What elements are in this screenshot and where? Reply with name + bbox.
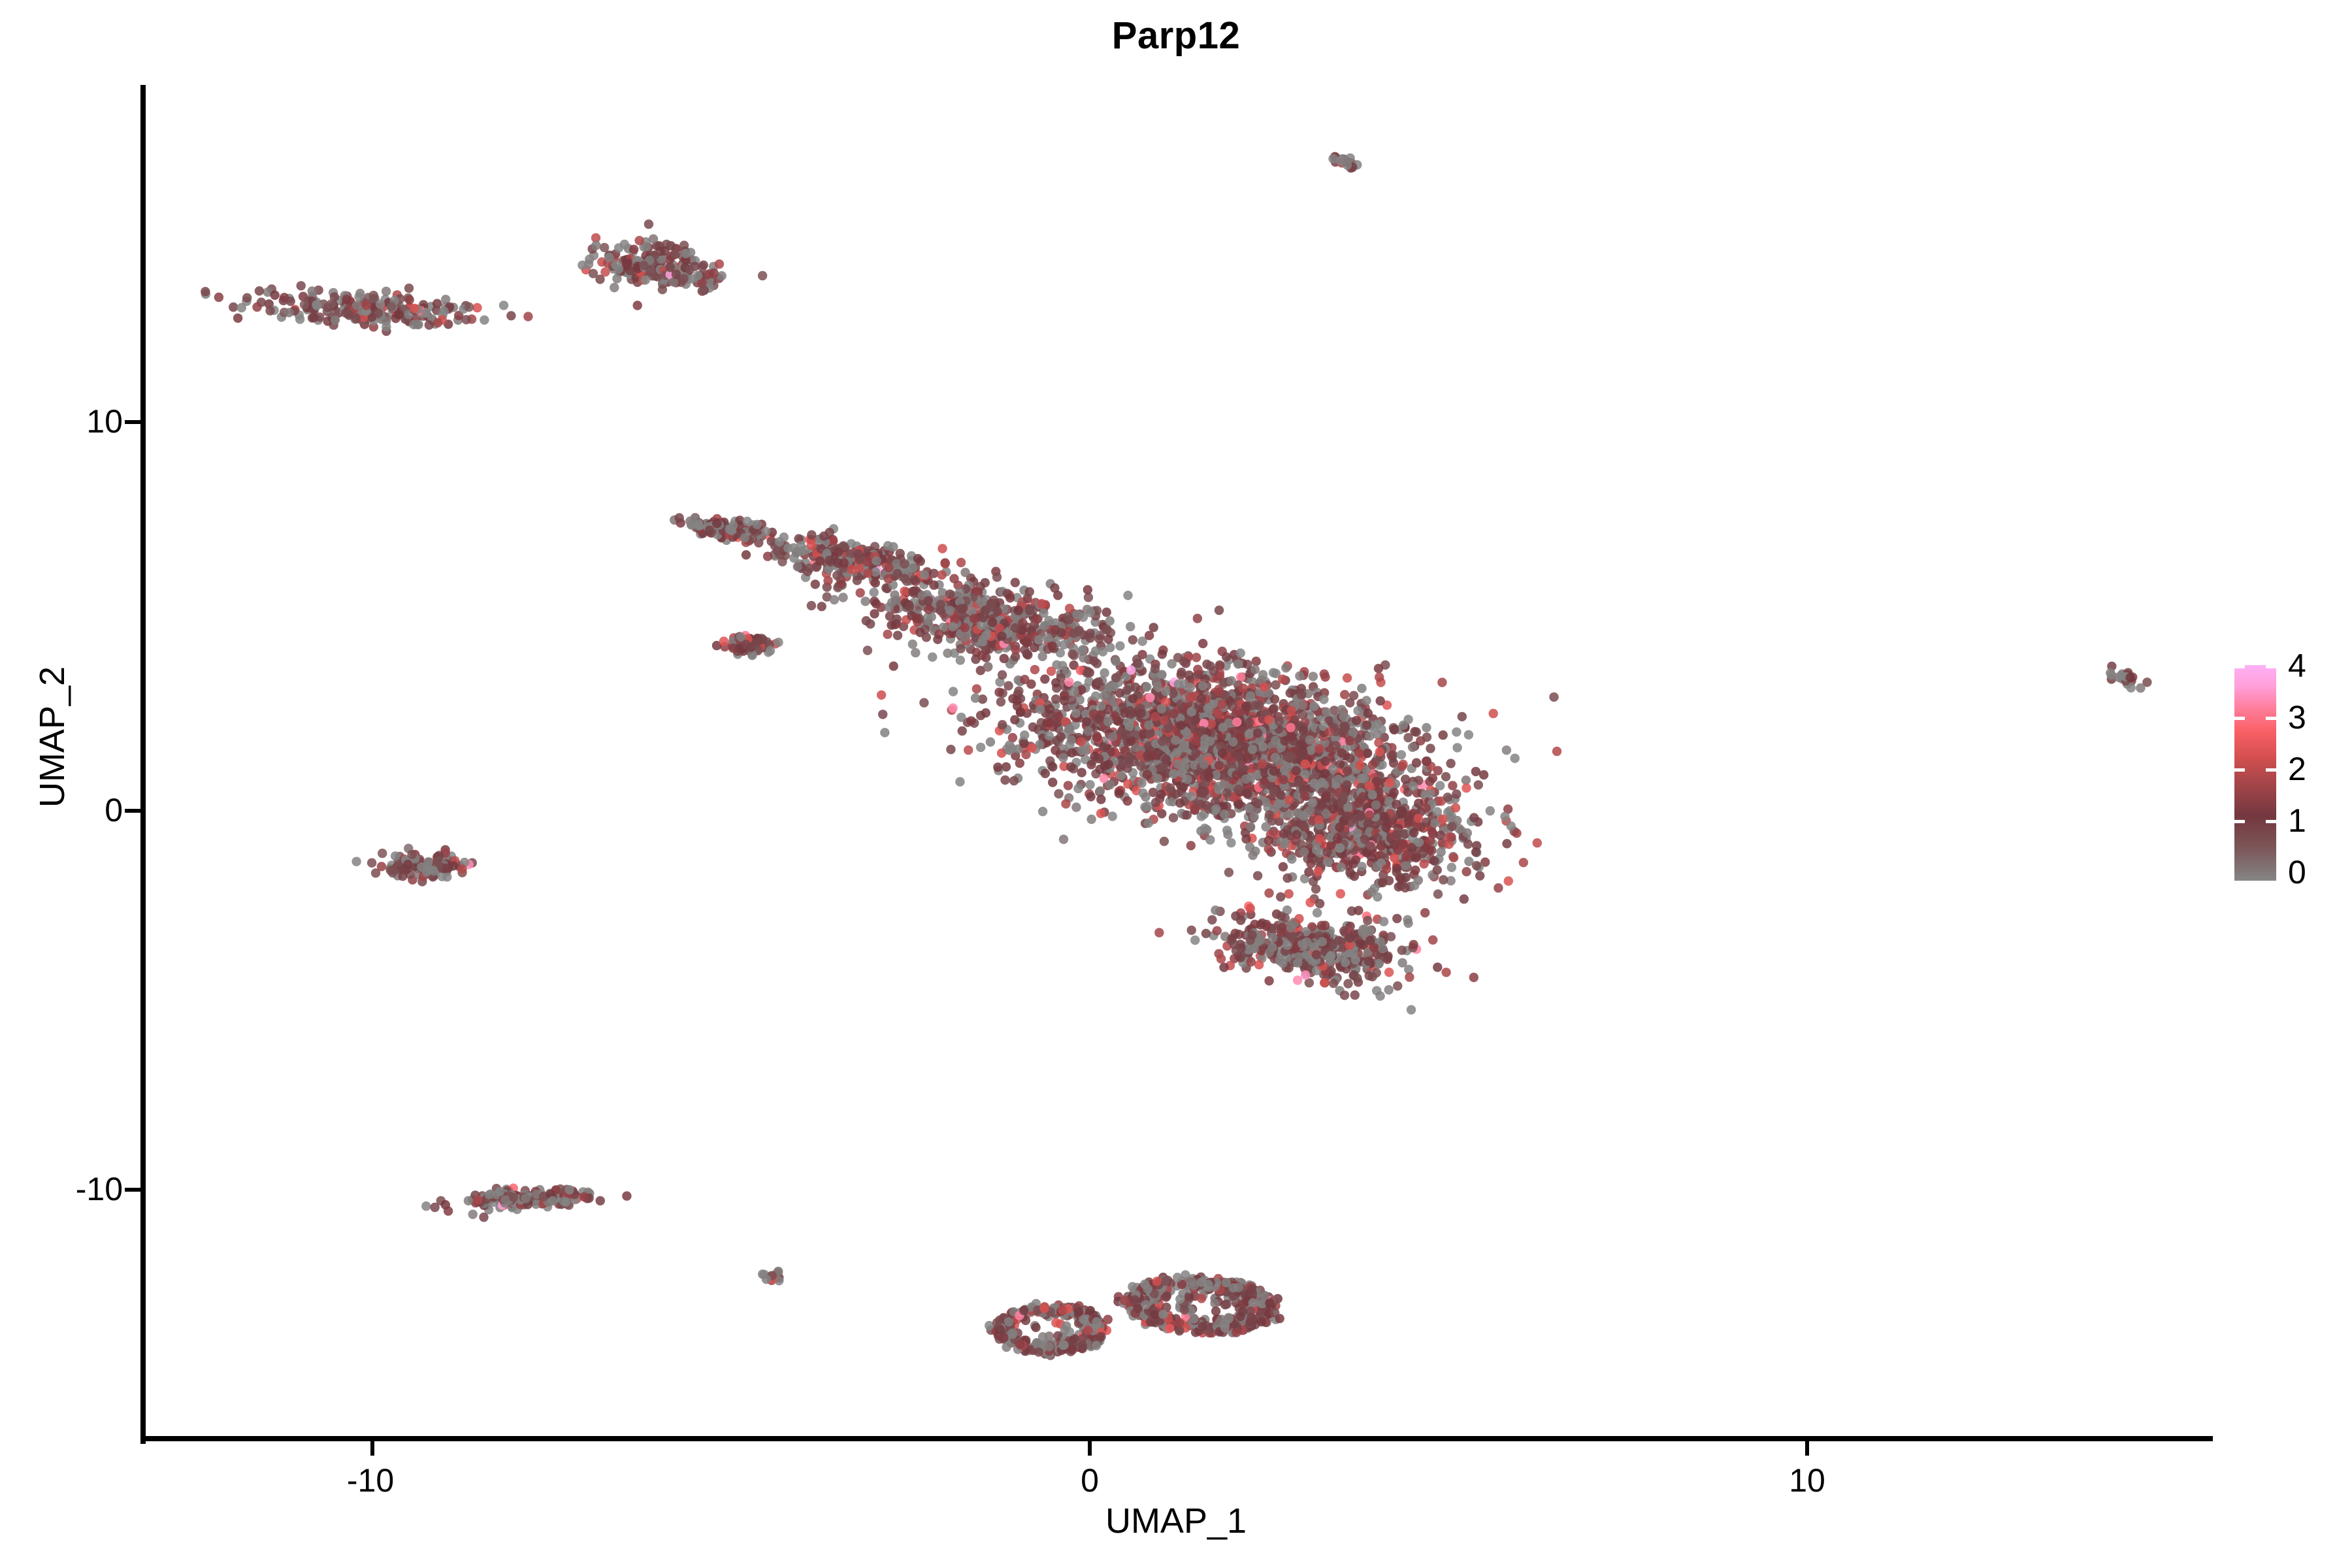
colorbar-tick-4-left: [2234, 665, 2245, 668]
colorbar-tick-2-left: [2234, 768, 2245, 772]
colorbar-tick-1-left: [2234, 820, 2245, 823]
colorbar-tick-3-left: [2234, 717, 2245, 720]
colorbar-tick-3-right: [2266, 717, 2276, 720]
colorbar-tick-1-right: [2266, 820, 2276, 823]
colorbar-label-1: 1: [2288, 804, 2306, 837]
page-title: Parp12: [0, 13, 2352, 59]
y-tick-mark-0: [125, 809, 140, 813]
scatter-points: [145, 85, 2213, 1439]
colorbar-tick-2-right: [2266, 768, 2276, 772]
colorbar-label-3: 3: [2288, 701, 2306, 734]
y-tick-label--10: -10: [76, 1173, 123, 1205]
colorbar-label-4: 4: [2288, 649, 2306, 682]
x-axis-title: UMAP_1: [0, 1500, 2352, 1542]
y-tick-label-10: 10: [86, 405, 123, 438]
x-tick-mark--10: [370, 1440, 374, 1456]
x-tick-label-0: 0: [992, 1462, 1188, 1499]
y-tick-mark-10: [125, 420, 140, 424]
colorbar-legend: 4 3 2 1 0: [2234, 665, 2339, 881]
y-tick-label-0: 0: [105, 794, 123, 826]
y-axis-title: UMAP_2: [31, 541, 73, 933]
colorbar-label-2: 2: [2288, 753, 2306, 785]
x-tick-mark-0: [1088, 1440, 1092, 1456]
scatter-panel: [145, 85, 2213, 1439]
colorbar-tick-4-right: [2266, 665, 2276, 668]
colorbar-gradient: [2234, 665, 2276, 881]
x-tick-label-10: 10: [1709, 1462, 1905, 1499]
y-tick-mark--10: [125, 1188, 140, 1192]
x-tick-label--10: -10: [272, 1462, 468, 1499]
x-tick-mark-10: [1805, 1440, 1809, 1456]
feature-plot: Parp12 10 0 -10 -10 0 10 UMAP_1 UMAP_2 4…: [0, 0, 2352, 1568]
colorbar-label-0: 0: [2288, 856, 2306, 889]
